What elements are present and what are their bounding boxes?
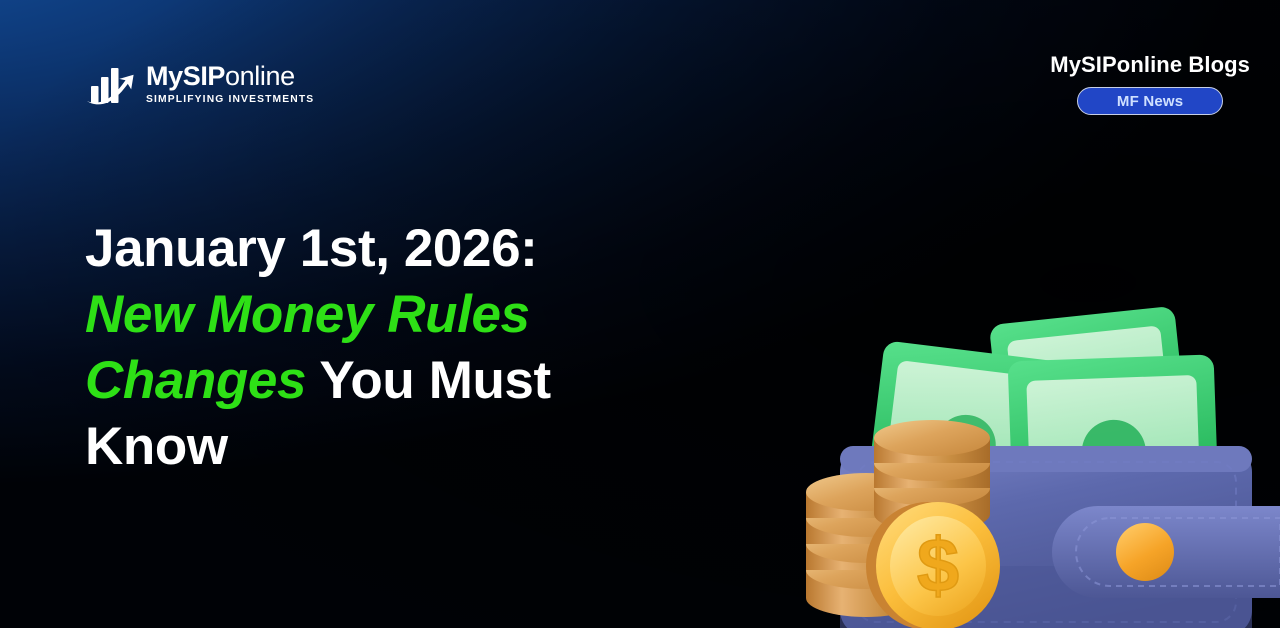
- headline-line-4: Know: [85, 417, 228, 476]
- mysiponline-logo[interactable]: MySIPonline SIMPLIFYING INVESTMENTS: [85, 60, 314, 108]
- logo-tagline: SIMPLIFYING INVESTMENTS: [146, 94, 314, 105]
- category-badge-mf-news[interactable]: MF News: [1077, 87, 1223, 115]
- headline-line-3-rest: You Must: [306, 351, 551, 410]
- wallet-button: [1116, 523, 1174, 581]
- headline: January 1st, 2026: New Money Rules Chang…: [85, 216, 725, 480]
- wallet-money-illustration: $: [780, 298, 1280, 628]
- blog-banner: MySIPonline SIMPLIFYING INVESTMENTS MySI…: [0, 0, 1280, 628]
- bar-chart-growth-arrow-icon: [85, 60, 137, 108]
- dollar-coin: $: [866, 502, 1000, 628]
- dollar-sign: $: [917, 524, 959, 609]
- headline-line-1: January 1st, 2026:: [85, 219, 537, 278]
- brand-header-block: MySIPonline Blogs MF News: [1050, 52, 1250, 115]
- logo-text: MySIPonline SIMPLIFYING INVESTMENTS: [146, 63, 314, 105]
- headline-accent-2: Changes: [85, 351, 306, 410]
- logo-wordmark: MySIPonline: [146, 63, 295, 90]
- logo-wordmark-light: online: [225, 61, 295, 91]
- headline-accent-1: New Money Rules: [85, 285, 530, 344]
- logo-wordmark-bold: MySIP: [146, 61, 225, 91]
- blog-title: MySIPonline Blogs: [1050, 52, 1250, 78]
